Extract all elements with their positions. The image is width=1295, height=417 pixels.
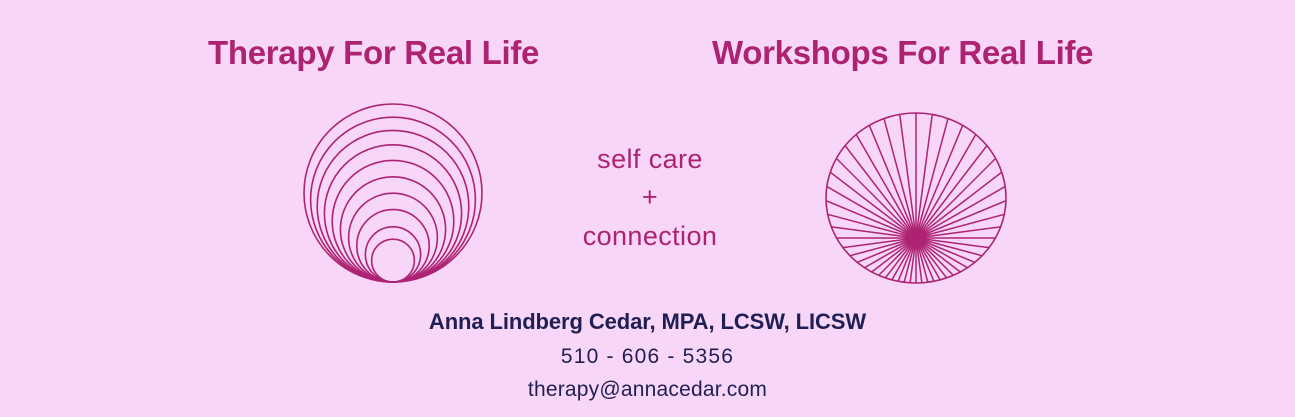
tagline-line-1: self care	[520, 140, 780, 178]
tagline-line-2: +	[520, 178, 780, 216]
practitioner-name: Anna Lindberg Cedar, MPA, LCSW, LICSW	[0, 308, 1295, 336]
tagline-line-3: connection	[520, 217, 780, 255]
banner: Therapy For Real Life Workshops For Real…	[0, 0, 1295, 417]
sunburst-logo	[823, 110, 1009, 286]
concentric-rings-logo	[298, 104, 488, 284]
email-address[interactable]: therapy@annacedar.com	[0, 375, 1295, 404]
sunburst-hub	[906, 229, 926, 247]
contact-block: Anna Lindberg Cedar, MPA, LCSW, LICSW 51…	[0, 308, 1295, 404]
tagline: self care + connection	[520, 140, 780, 255]
heading-workshops-for-real-life: Workshops For Real Life	[712, 36, 1093, 69]
phone-number[interactable]: 510 - 606 - 5356	[0, 342, 1295, 372]
concentric-rings-svg	[298, 104, 488, 284]
heading-therapy-for-real-life: Therapy For Real Life	[208, 36, 539, 69]
sunburst-svg	[823, 110, 1009, 286]
